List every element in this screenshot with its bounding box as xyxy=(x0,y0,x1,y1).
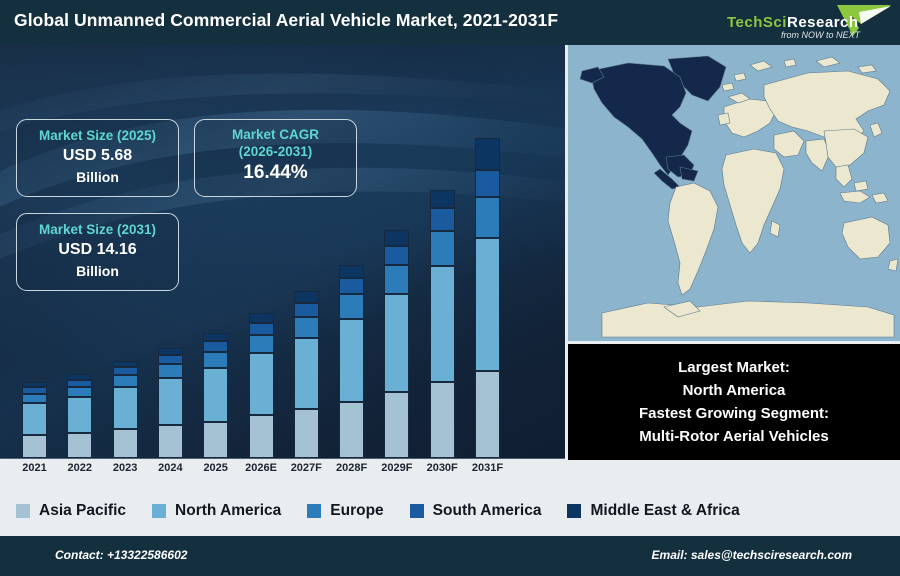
x-axis-labels: 202120222023202420252026E2027F2028F2029F… xyxy=(0,462,565,482)
bar-segment xyxy=(113,429,138,458)
largest-market-value: North America xyxy=(574,379,894,402)
bar-2026E xyxy=(249,313,274,458)
bar-segment xyxy=(22,403,47,436)
x-axis-tick-label: 2028F xyxy=(329,462,375,474)
key-insights-box: Largest Market: North America Fastest Gr… xyxy=(568,344,900,460)
bar-segment xyxy=(113,375,138,387)
bar-2024 xyxy=(158,348,183,458)
bar-2022 xyxy=(67,374,92,458)
x-axis-line xyxy=(0,458,565,459)
bar-segment xyxy=(384,265,409,294)
bar-segment xyxy=(22,394,47,403)
legend-swatch-icon xyxy=(567,504,581,518)
bar-2027F xyxy=(294,291,319,458)
x-axis-tick-label: 2021 xyxy=(12,462,58,474)
bar-2023 xyxy=(113,361,138,458)
legend-swatch-icon xyxy=(16,504,30,518)
bar-segment xyxy=(203,341,228,351)
bar-segment xyxy=(203,368,228,422)
fastest-segment-value: Multi-Rotor Aerial Vehicles xyxy=(574,425,894,448)
world-map xyxy=(568,45,900,341)
bar-segment xyxy=(475,197,500,238)
bar-segment xyxy=(249,415,274,458)
x-axis-tick-label: 2031F xyxy=(465,462,511,474)
bar-segment xyxy=(294,317,319,338)
bar-2030F xyxy=(430,190,455,458)
bar-segment xyxy=(294,303,319,317)
bar-segment xyxy=(294,338,319,409)
legend-item[interactable]: North America xyxy=(152,502,281,520)
bar-segment xyxy=(249,313,274,323)
bar-segment xyxy=(430,231,455,266)
bar-segment xyxy=(475,170,500,197)
legend-label: Asia Pacific xyxy=(39,502,126,520)
bar-segment xyxy=(384,392,409,458)
page-title: Global Unmanned Commercial Aerial Vehicl… xyxy=(14,10,558,31)
bar-segment xyxy=(158,378,183,425)
legend-swatch-icon xyxy=(307,504,321,518)
techsci-research-logo: TechSci Research from NOW to NEXT xyxy=(709,2,894,44)
bar-2029F xyxy=(384,230,409,458)
bar-segment xyxy=(339,402,364,458)
bar-segment xyxy=(339,265,364,278)
chart-panel: Market Size (2025) USD 5.68 Billion Mark… xyxy=(0,45,565,486)
bar-segment xyxy=(113,387,138,429)
bar-segment xyxy=(430,190,455,208)
bar-segment xyxy=(339,319,364,401)
fastest-segment-label: Fastest Growing Segment: xyxy=(574,402,894,425)
bar-segment xyxy=(430,266,455,382)
bar-segment xyxy=(22,435,47,458)
bar-segment xyxy=(203,422,228,458)
svg-text:Research: Research xyxy=(787,14,859,31)
svg-text:TechSci: TechSci xyxy=(727,14,787,31)
bar-segment xyxy=(67,433,92,458)
legend-label: Middle East & Africa xyxy=(590,502,739,520)
bar-segment xyxy=(475,238,500,371)
bar-segment xyxy=(249,335,274,353)
bar-2021 xyxy=(22,382,47,458)
bar-segment xyxy=(203,333,228,341)
bar-2025 xyxy=(203,333,228,458)
bar-segment xyxy=(203,352,228,368)
bar-segment xyxy=(294,291,319,302)
bar-2028F xyxy=(339,265,364,458)
bar-segment xyxy=(158,425,183,458)
bar-segment xyxy=(339,278,364,294)
legend-swatch-icon xyxy=(152,504,166,518)
x-axis-tick-label: 2029F xyxy=(374,462,420,474)
legend-item[interactable]: South America xyxy=(410,502,542,520)
bar-segment xyxy=(67,397,92,433)
x-axis-tick-label: 2026E xyxy=(238,462,284,474)
legend-item[interactable]: Middle East & Africa xyxy=(567,502,739,520)
bar-segment xyxy=(67,380,92,387)
legend-swatch-icon xyxy=(410,504,424,518)
legend-item[interactable]: Asia Pacific xyxy=(16,502,126,520)
bar-segment xyxy=(158,364,183,378)
bar-segment xyxy=(158,348,183,355)
legend-label: South America xyxy=(433,502,542,520)
footer-email: Email: sales@techsciresearch.com xyxy=(652,548,852,562)
largest-market-label: Largest Market: xyxy=(574,356,894,379)
bar-segment xyxy=(67,387,92,397)
bar-segment xyxy=(384,246,409,265)
legend-label: Europe xyxy=(330,502,383,520)
bar-segment xyxy=(475,138,500,170)
bar-segment xyxy=(294,409,319,458)
chart-legend: Asia PacificNorth AmericaEuropeSouth Ame… xyxy=(0,487,900,534)
bar-segment xyxy=(249,353,274,415)
x-axis-tick-label: 2027F xyxy=(283,462,329,474)
bar-segment xyxy=(158,355,183,364)
bar-segment xyxy=(430,208,455,231)
bar-2031F xyxy=(475,138,500,458)
x-axis-tick-label: 2022 xyxy=(57,462,103,474)
stacked-bar-plot xyxy=(0,45,565,486)
bar-segment xyxy=(249,323,274,335)
bar-segment xyxy=(384,230,409,245)
legend-item[interactable]: Europe xyxy=(307,502,383,520)
x-axis-tick-label: 2023 xyxy=(102,462,148,474)
bar-segment xyxy=(339,294,364,319)
footer-contact: Contact: +13322586602 xyxy=(55,548,187,562)
x-axis-tick-label: 2024 xyxy=(147,462,193,474)
x-axis-tick-label: 2025 xyxy=(193,462,239,474)
bar-segment xyxy=(384,294,409,392)
bar-segment xyxy=(475,371,500,458)
x-axis-tick-label: 2030F xyxy=(419,462,465,474)
bar-segment xyxy=(113,367,138,375)
svg-text:from NOW to NEXT: from NOW to NEXT xyxy=(781,30,862,40)
footer-bar: Contact: +13322586602 Email: sales@techs… xyxy=(0,536,900,576)
header-bar: Global Unmanned Commercial Aerial Vehicl… xyxy=(0,0,900,45)
bar-segment xyxy=(430,382,455,458)
legend-label: North America xyxy=(175,502,281,520)
infographic-page: Global Unmanned Commercial Aerial Vehicl… xyxy=(0,0,900,576)
